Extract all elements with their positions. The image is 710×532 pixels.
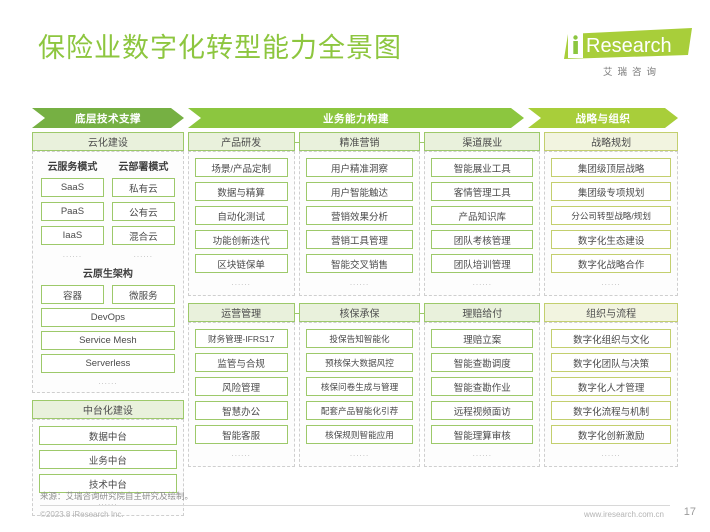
source-note: 来源：艾瑞咨询研究院自主研究及绘制。: [40, 490, 193, 502]
group-label-service-mode: 云服务模式: [41, 158, 104, 173]
chip-digital-process-mechanism[interactable]: 数字化流程与机制: [551, 401, 671, 420]
chip-team-training[interactable]: 团队培训管理: [431, 254, 533, 273]
iresearch-logo: Research 艾瑞咨询: [564, 28, 694, 80]
section-product-rd: 产品研发 场景/产品定制 数据与精算 自动化测试 功能创新迭代 区块链保单 ..…: [188, 132, 295, 296]
chip-underwriting-questionnaire[interactable]: 核保问卷生成与管理: [306, 377, 414, 396]
section-precision-marketing: 精准营销 用户精准洞察 用户智能触达 营销效果分析 营销工具管理 智能交叉销售 …: [299, 132, 421, 296]
chip-service-mesh[interactable]: Service Mesh: [41, 331, 175, 350]
footer-divider: [40, 505, 670, 506]
page-title: 保险业数字化转型能力全景图: [38, 26, 402, 65]
cloud-service-list: SaaS PaaS IaaS ......: [41, 178, 104, 259]
chip-digital-team-decision[interactable]: 数字化团队与决策: [551, 353, 671, 372]
section-claims: 理赔给付 理赔立案 智能查勘调度 智能查勘作业 远程视频面访 智能理算审核 ..…: [424, 303, 540, 467]
page-number: 17: [684, 506, 696, 518]
chip-smart-customer-service[interactable]: 智能客服: [195, 425, 288, 444]
phase-arrow-foundation: 底层技术支撑: [32, 108, 184, 128]
group-label-cloud-native: 云原生架构: [41, 265, 175, 280]
slide-page: 保险业数字化转型能力全景图 Research 艾瑞咨询 底层技术支撑 业务能力构…: [0, 0, 710, 532]
section-header-claims: 理赔给付: [424, 303, 540, 322]
phase-arrow-band: 底层技术支撑 业务能力构建 战略与组织: [32, 108, 678, 128]
dots-channel-business: ......: [431, 279, 533, 287]
dots-precision-marketing: ......: [306, 279, 414, 287]
phase-arrow-business: 业务能力构建: [188, 108, 524, 128]
chip-iaas[interactable]: IaaS: [41, 226, 104, 245]
chip-team-assessment[interactable]: 团队考核管理: [431, 230, 533, 249]
section-header-channel-business-label: 渠道展业: [462, 134, 502, 149]
chip-bundle-product-recommend[interactable]: 配套产品智能化引荐: [306, 401, 414, 420]
section-body-claims: 理赔立案 智能查勘调度 智能查勘作业 远程视频面访 智能理算审核 ......: [424, 322, 540, 467]
chip-marketing-effect-analysis[interactable]: 营销效果分析: [306, 206, 414, 225]
section-body-org-process: 数字化组织与文化 数字化团队与决策 数字化人才管理 数字化流程与机制 数字化创新…: [544, 322, 678, 467]
column-tech: 云化建设 云服务模式 云部署模式 SaaS PaaS IaaS ......: [32, 132, 184, 470]
chip-data-actuarial[interactable]: 数据与精算: [195, 182, 288, 201]
phase-arrow-strategy: 战略与组织: [528, 108, 678, 128]
column-strategy: 战略规划 集团级顶层战略 集团级专项规划 分公司转型战略/规划 数字化生态建设 …: [544, 132, 678, 470]
chip-digital-strategy-cooperation[interactable]: 数字化战略合作: [551, 254, 671, 273]
section-body-cloud: 云服务模式 云部署模式 SaaS PaaS IaaS ...... 私有云 公有…: [32, 151, 184, 393]
chip-private-cloud[interactable]: 私有云: [112, 178, 175, 197]
chip-data-midplatform[interactable]: 数据中台: [39, 426, 177, 445]
dots-operations: ......: [195, 450, 288, 458]
section-header-org-process: 组织与流程: [544, 303, 678, 322]
dots-claims: ......: [431, 450, 533, 458]
section-header-cloud: 云化建设: [32, 132, 184, 151]
logo-shape-icon: Research: [564, 28, 694, 60]
cloud-native-pair: 容器 微服务: [41, 285, 175, 304]
dots-service-mode: ......: [41, 251, 104, 259]
section-header-operations-label: 运营管理: [221, 305, 261, 320]
svg-text:Research: Research: [586, 35, 672, 57]
chip-smart-office[interactable]: 智慧办公: [195, 401, 288, 420]
chip-customer-relation-tool[interactable]: 客情管理工具: [431, 182, 533, 201]
section-header-underwriting-label: 核保承保: [340, 305, 380, 320]
chip-smart-adjustment-review[interactable]: 智能理算审核: [431, 425, 533, 444]
chip-product-knowledge-base[interactable]: 产品知识库: [431, 206, 533, 225]
cloud-deploy-list: 私有云 公有云 混合云 ......: [112, 178, 175, 259]
section-header-product-rd: 产品研发: [188, 132, 295, 151]
section-header-product-rd-label: 产品研发: [221, 134, 261, 149]
chip-container[interactable]: 容器: [41, 285, 104, 304]
chip-smart-sales-tool[interactable]: 智能展业工具: [431, 158, 533, 177]
section-body-product-rd: 场景/产品定制 数据与精算 自动化测试 功能创新迭代 区块链保单 ......: [188, 151, 295, 296]
chip-digital-ecosystem[interactable]: 数字化生态建设: [551, 230, 671, 249]
copyright-text: ©2023.8 iResearch Inc.: [40, 510, 124, 519]
section-header-underwriting: 核保承保: [299, 303, 421, 322]
chip-smart-survey-operation[interactable]: 智能查勘作业: [431, 377, 533, 396]
logo-subtitle: 艾瑞咨询: [564, 64, 694, 78]
section-body-operations: 财务管理-IFRS17 监管与合规 风险管理 智慧办公 智能客服 ......: [188, 322, 295, 467]
section-body-channel-business: 智能展业工具 客情管理工具 产品知识库 团队考核管理 团队培训管理 ......: [424, 151, 540, 296]
column-marketing: 精准营销 用户精准洞察 用户智能触达 营销效果分析 营销工具管理 智能交叉销售 …: [299, 132, 421, 470]
section-body-strategic-planning: 集团级顶层战略 集团级专项规划 分公司转型战略/规划 数字化生态建设 数字化战略…: [544, 151, 678, 296]
section-header-precision-marketing-label: 精准营销: [340, 134, 380, 149]
chip-saas[interactable]: SaaS: [41, 178, 104, 197]
chip-underwriting-rules-apply[interactable]: 核保规则智能应用: [306, 425, 414, 444]
chip-blockchain-policy[interactable]: 区块链保单: [195, 254, 288, 273]
chip-paas[interactable]: PaaS: [41, 202, 104, 221]
dots-product-rd: ......: [195, 279, 288, 287]
cloud-mode-grid: SaaS PaaS IaaS ...... 私有云 公有云 混合云 ......: [41, 178, 175, 259]
chip-pre-underwriting-bigdata-risk[interactable]: 预核保大数据风控: [306, 353, 414, 372]
column-channel: 渠道展业 智能展业工具 客情管理工具 产品知识库 团队考核管理 团队培训管理 .…: [424, 132, 540, 470]
section-header-claims-label: 理赔给付: [462, 305, 502, 320]
section-header-operations: 运营管理: [188, 303, 295, 322]
section-org-process: 组织与流程 数字化组织与文化 数字化团队与决策 数字化人才管理 数字化流程与机制…: [544, 303, 678, 467]
chip-feature-innovation[interactable]: 功能创新迭代: [195, 230, 288, 249]
chip-hybrid-cloud[interactable]: 混合云: [112, 226, 175, 245]
section-body-precision-marketing: 用户精准洞察 用户智能触达 营销效果分析 营销工具管理 智能交叉销售 .....…: [299, 151, 421, 296]
chip-finance-ifrs17[interactable]: 财务管理-IFRS17: [195, 329, 288, 348]
connector-dash-icon: [295, 313, 299, 314]
logo-mark: Research: [564, 28, 694, 60]
section-header-midplatform: 中台化建设: [32, 400, 184, 419]
chip-digital-talent-mgmt[interactable]: 数字化人才管理: [551, 377, 671, 396]
chip-digital-org-culture[interactable]: 数字化组织与文化: [551, 329, 671, 348]
section-operations: 运营管理 财务管理-IFRS17 监管与合规 风险管理 智慧办公 智能客服 ..…: [188, 303, 295, 467]
chip-business-midplatform[interactable]: 业务中台: [39, 450, 177, 469]
chip-smart-cross-selling[interactable]: 智能交叉销售: [306, 254, 414, 273]
chip-serverless[interactable]: Serverless: [41, 354, 175, 373]
capability-board: 云化建设 云服务模式 云部署模式 SaaS PaaS IaaS ......: [32, 132, 678, 470]
chip-scenario-product-custom[interactable]: 场景/产品定制: [195, 158, 288, 177]
section-header-channel-business: 渠道展业: [424, 132, 540, 151]
chip-user-insight[interactable]: 用户精准洞察: [306, 158, 414, 177]
dots-cloud-native: ......: [41, 378, 175, 386]
section-underwriting: 核保承保 投保告知智能化 预核保大数据风控 核保问卷生成与管理 配套产品智能化引…: [299, 303, 421, 467]
dots-strategic-planning: ......: [551, 279, 671, 287]
section-cloud: 云化建设 云服务模式 云部署模式 SaaS PaaS IaaS ......: [32, 132, 184, 393]
chip-devops[interactable]: DevOps: [41, 308, 175, 327]
dots-deploy-mode: ......: [112, 251, 175, 259]
chip-smart-survey-dispatch[interactable]: 智能查勘调度: [431, 353, 533, 372]
dots-org-process: ......: [551, 450, 671, 458]
column-product: 产品研发 场景/产品定制 数据与精算 自动化测试 功能创新迭代 区块链保单 ..…: [188, 132, 295, 470]
section-header-strategic-planning: 战略规划: [544, 132, 678, 151]
connector-dash-icon: [295, 142, 299, 143]
chip-digital-innovation-incentive[interactable]: 数字化创新激励: [551, 425, 671, 444]
section-body-underwriting: 投保告知智能化 预核保大数据风控 核保问卷生成与管理 配套产品智能化引荐 核保规…: [299, 322, 421, 467]
chip-group-special-planning[interactable]: 集团级专项规划: [551, 182, 671, 201]
connector-dash-icon: [420, 313, 424, 314]
chip-user-smart-reach[interactable]: 用户智能触达: [306, 182, 414, 201]
chip-disclosure-intelligent[interactable]: 投保告知智能化: [306, 329, 414, 348]
dots-underwriting: ......: [306, 450, 414, 458]
section-header-precision-marketing: 精准营销: [299, 132, 421, 151]
cloud-mode-labels: 云服务模式 云部署模式: [41, 158, 175, 174]
section-strategic-planning: 战略规划 集团级顶层战略 集团级专项规划 分公司转型战略/规划 数字化生态建设 …: [544, 132, 678, 296]
chip-claim-filing[interactable]: 理赔立案: [431, 329, 533, 348]
chip-remote-video-interview[interactable]: 远程视频面访: [431, 401, 533, 420]
chip-marketing-tool-mgmt[interactable]: 营销工具管理: [306, 230, 414, 249]
chip-auto-testing[interactable]: 自动化测试: [195, 206, 288, 225]
chip-public-cloud[interactable]: 公有云: [112, 202, 175, 221]
chip-regulation-compliance[interactable]: 监管与合规: [195, 353, 288, 372]
chip-risk-management[interactable]: 风险管理: [195, 377, 288, 396]
website-url: www.iresearch.com.cn: [584, 510, 664, 519]
section-channel-business: 渠道展业 智能展业工具 客情管理工具 产品知识库 团队考核管理 团队培训管理 .…: [424, 132, 540, 296]
group-label-deploy-mode: 云部署模式: [112, 158, 175, 173]
chip-microservice[interactable]: 微服务: [112, 285, 175, 304]
chip-branch-transformation-strategy[interactable]: 分公司转型战略/规划: [551, 206, 671, 225]
chip-group-top-strategy[interactable]: 集团级顶层战略: [551, 158, 671, 177]
connector-dash-icon: [420, 142, 424, 143]
